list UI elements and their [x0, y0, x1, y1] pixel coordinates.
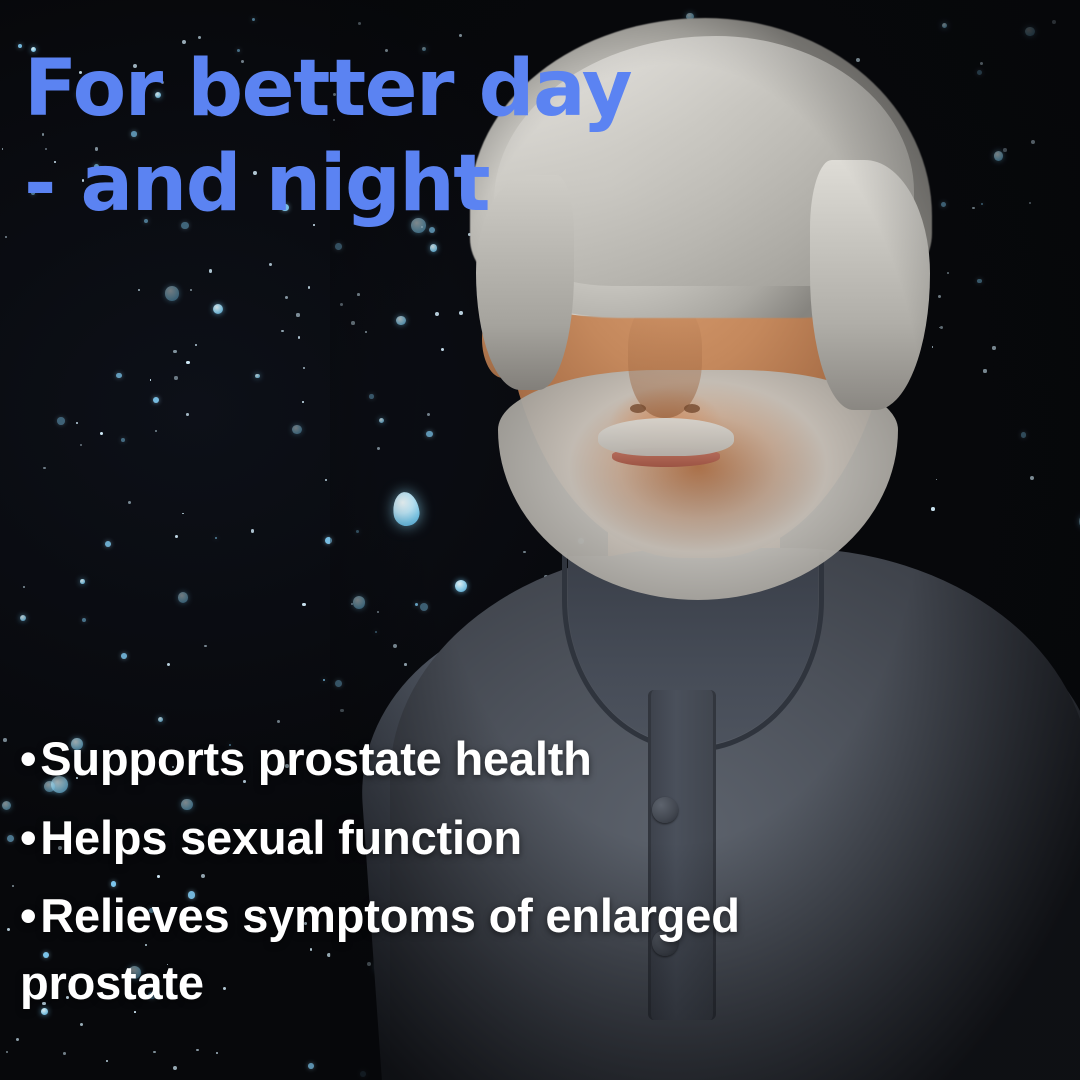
star-sparkle-icon [150, 379, 152, 381]
star-sparkle-icon [158, 717, 163, 722]
bullet-dot-icon: • [20, 811, 36, 864]
star-sparkle-icon [12, 885, 14, 887]
star-sparkle-icon [2, 801, 11, 810]
star-sparkle-icon [76, 422, 78, 424]
star-sparkle-icon [23, 586, 25, 588]
star-sparkle-icon [325, 479, 327, 481]
star-sparkle-icon [121, 438, 125, 442]
star-sparkle-icon [204, 645, 206, 647]
star-sparkle-icon [82, 618, 86, 622]
star-sparkle-icon [173, 1066, 177, 1070]
star-sparkle-icon [285, 296, 288, 299]
nostril-left [630, 404, 646, 413]
star-sparkle-icon [195, 344, 197, 346]
star-sparkle-icon [186, 413, 189, 416]
star-sparkle-icon [216, 1052, 218, 1054]
star-sparkle-icon [2, 148, 4, 150]
nostril-right [684, 404, 700, 413]
star-sparkle-icon [277, 720, 280, 723]
star-sparkle-icon [182, 513, 184, 515]
star-sparkle-icon [296, 313, 299, 316]
star-sparkle-icon [138, 289, 140, 291]
bullet-dot-icon: • [20, 732, 36, 785]
star-sparkle-icon [116, 373, 122, 379]
list-item-label: Relieves symptoms of enlarged prostate [20, 889, 740, 1009]
star-sparkle-icon [20, 615, 27, 622]
star-sparkle-icon [302, 603, 306, 607]
star-sparkle-icon [292, 425, 302, 435]
advertisement-creative: For better day - and night •Supports pro… [0, 0, 1080, 1080]
bullet-dot-icon: • [20, 889, 36, 942]
star-sparkle-icon [308, 1063, 314, 1069]
star-sparkle-icon [43, 467, 46, 470]
star-sparkle-icon [155, 430, 157, 432]
star-sparkle-icon [7, 835, 14, 842]
star-sparkle-icon [106, 1060, 108, 1062]
star-sparkle-icon [252, 18, 255, 21]
star-sparkle-icon [167, 663, 170, 666]
star-sparkle-icon [269, 263, 273, 267]
star-sparkle-icon [173, 350, 177, 354]
star-sparkle-icon [175, 535, 178, 538]
star-sparkle-icon [298, 336, 301, 339]
benefits-list: •Supports prostate health •Helps sexual … [20, 726, 920, 1029]
star-sparkle-icon [186, 361, 190, 365]
star-sparkle-icon [105, 541, 111, 547]
star-sparkle-icon [323, 679, 325, 681]
star-sparkle-icon [302, 401, 304, 403]
star-sparkle-icon [178, 592, 189, 603]
star-sparkle-icon [255, 374, 260, 379]
headline-line-2: - and night [24, 137, 704, 232]
star-sparkle-icon [63, 1052, 66, 1055]
star-sparkle-icon [209, 269, 213, 273]
mustache [598, 418, 734, 456]
list-item: •Supports prostate health [20, 726, 920, 793]
star-sparkle-icon [153, 1051, 156, 1054]
star-sparkle-icon [303, 367, 306, 370]
list-item: •Relieves symptoms of enlarged prostate [20, 883, 920, 1016]
hair-side-right [810, 160, 930, 410]
list-item: •Helps sexual function [20, 805, 920, 872]
star-sparkle-icon [308, 286, 311, 289]
star-sparkle-icon [7, 928, 11, 932]
headline-line-1: For better day [24, 42, 704, 137]
star-sparkle-icon [281, 330, 284, 333]
star-sparkle-icon [215, 537, 218, 540]
star-sparkle-icon [57, 417, 65, 425]
star-sparkle-icon [153, 397, 159, 403]
headline: For better day - and night [24, 42, 704, 232]
star-sparkle-icon [198, 36, 202, 40]
star-sparkle-icon [80, 579, 85, 584]
star-sparkle-icon [100, 432, 103, 435]
star-sparkle-icon [5, 236, 7, 238]
star-sparkle-icon [190, 289, 192, 291]
star-sparkle-icon [80, 444, 82, 446]
star-sparkle-icon [196, 1049, 199, 1052]
star-sparkle-icon [165, 286, 180, 301]
star-sparkle-icon [174, 376, 177, 379]
star-sparkle-icon [121, 653, 127, 659]
star-sparkle-icon [3, 738, 7, 742]
star-sparkle-icon [6, 1051, 9, 1054]
star-sparkle-icon [16, 1038, 19, 1041]
star-sparkle-icon [213, 304, 223, 314]
star-sparkle-icon [128, 501, 131, 504]
list-item-label: Supports prostate health [40, 732, 591, 785]
list-item-label: Helps sexual function [40, 811, 522, 864]
star-sparkle-icon [18, 44, 22, 48]
star-sparkle-icon [251, 529, 255, 533]
